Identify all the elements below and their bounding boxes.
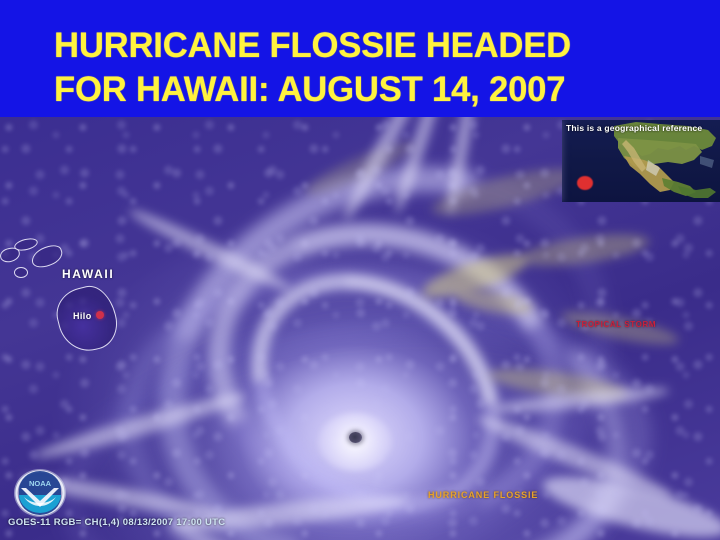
spiral-band-inner <box>168 178 605 540</box>
cloud-streak-1 <box>338 117 432 224</box>
map-label-hilo: Hilo <box>73 311 92 321</box>
slide-canvas: HURRICANE FLOSSIE HEADED FOR HAWAII: AUG… <box>0 0 720 540</box>
hawaii-position-marker-icon <box>577 176 593 190</box>
cloud-patch-tan-3 <box>519 228 651 272</box>
cloud-streak-5 <box>32 387 248 465</box>
noaa-logo: NOAA <box>12 467 68 519</box>
geographic-reference-inset: This is a geographical reference <box>562 120 720 202</box>
cloud-streak-4 <box>126 203 295 296</box>
cloud-patch-tan-2 <box>454 285 534 318</box>
hurricane-eye <box>349 432 362 443</box>
cloud-patch-tan-1 <box>418 246 531 307</box>
cloud-patch-tan-5 <box>429 159 582 224</box>
storm-label-hurricane-flossie: HURRICANE FLOSSIE <box>428 490 538 500</box>
island-kauai <box>14 267 28 278</box>
slide-title-line-2: FOR HAWAII: AUGUST 14, 2007 <box>54 70 565 110</box>
cloud-streak-9 <box>170 490 411 537</box>
slide-title-line-1: HURRICANE FLOSSIE HEADED <box>54 26 571 66</box>
storm-label-annotation: TROPICAL STORM <box>576 320 656 329</box>
inset-caption: This is a geographical reference <box>566 123 702 133</box>
map-label-hawaii: HAWAII <box>62 267 114 281</box>
cloud-streak-10 <box>538 465 720 540</box>
hilo-marker-icon <box>96 311 104 319</box>
cloud-streak-7 <box>490 383 671 418</box>
title-band: HURRICANE FLOSSIE HEADED FOR HAWAII: AUG… <box>0 0 720 117</box>
cloud-patch-tan-4 <box>487 362 629 405</box>
cloud-streak-3 <box>443 117 480 216</box>
satellite-image: HAWAII Hilo HURRICANE FLOSSIE TROPICAL S… <box>0 117 720 540</box>
noaa-logo-text: NOAA <box>29 479 52 488</box>
cloud-patch-tan-7 <box>301 134 420 203</box>
spiral-band-mid <box>102 241 645 540</box>
goes-caption: GOES-11 RGB= CH(1,4) 08/13/2007 17:00 UT… <box>8 517 225 528</box>
island-molokai <box>13 236 39 252</box>
cloud-streak-2 <box>390 117 450 215</box>
